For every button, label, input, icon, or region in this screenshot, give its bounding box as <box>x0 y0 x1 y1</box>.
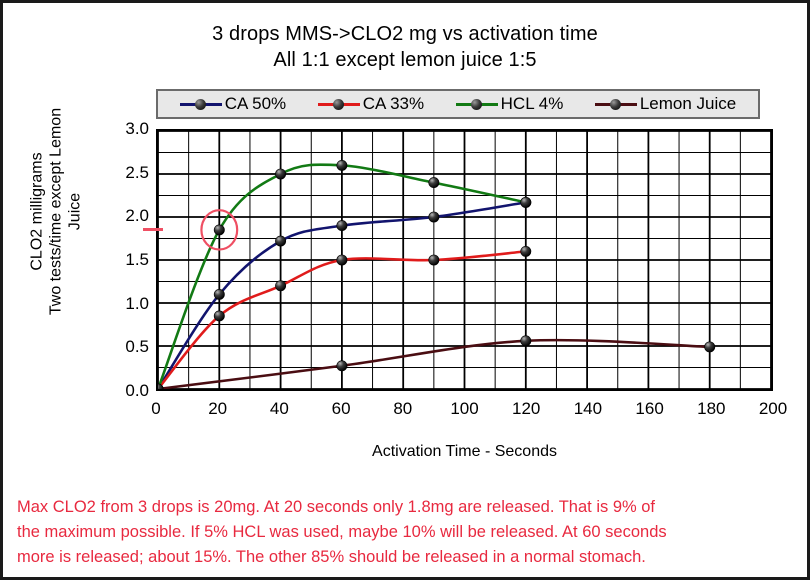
x-axis-tick-label: 20 <box>193 399 243 419</box>
x-axis-tick-label: 80 <box>378 399 428 419</box>
x-axis-label: Activation Time - Seconds <box>156 443 773 461</box>
legend-label: HCL 4% <box>501 94 564 114</box>
data-point-marker <box>521 336 531 346</box>
x-axis-tick-label: 200 <box>748 399 798 419</box>
legend-item-hcl-4: HCL 4% <box>456 94 564 114</box>
legend-item-ca-33: CA 33% <box>318 94 424 114</box>
series-layer <box>158 131 771 389</box>
data-point-marker <box>521 246 531 256</box>
x-axis-tick-label: 100 <box>440 399 490 419</box>
plot-area <box>156 129 773 391</box>
legend-marker-icon <box>333 99 344 110</box>
chart-title-line-2: All 1:1 except lemon juice 1:5 <box>3 47 807 73</box>
y-axis-tick-label: 0.0 <box>105 381 149 401</box>
y-axis-tick-label: 1.0 <box>105 294 149 314</box>
legend-label: CA 33% <box>363 94 424 114</box>
chart-page: 3 drops MMS->CLO2 mg vs activation time … <box>0 0 810 580</box>
data-point-marker <box>214 289 224 299</box>
data-point-marker <box>705 342 715 352</box>
legend-swatch-icon <box>456 97 498 111</box>
annotation-axis-dash <box>143 228 163 231</box>
data-point-marker <box>214 311 224 321</box>
series-line-hcl-4 <box>158 165 526 389</box>
y-axis-tick-label: 1.5 <box>105 250 149 270</box>
caption-line-2: the maximum possible. If 5% HCL was used… <box>17 520 799 545</box>
x-axis-tick-labels: 020406080100120140160180200 <box>156 399 773 423</box>
data-point-marker <box>337 220 347 230</box>
legend-swatch-icon <box>180 97 222 111</box>
x-axis-tick-label: 120 <box>501 399 551 419</box>
legend-label: CA 50% <box>225 94 286 114</box>
chart-title-line-1: 3 drops MMS->CLO2 mg vs activation time <box>3 21 807 47</box>
data-point-marker <box>275 236 285 246</box>
caption-line-3: more is released; about 15%. The other 8… <box>17 545 799 570</box>
legend-marker-icon <box>195 99 206 110</box>
legend-label: Lemon Juice <box>640 94 736 114</box>
y-axis-tick-label: 2.5 <box>105 163 149 183</box>
series-line-lemon-juice <box>158 340 710 389</box>
y-axis-tick-label: 3.0 <box>105 119 149 139</box>
legend-swatch-icon <box>318 97 360 111</box>
data-point-marker <box>275 281 285 291</box>
y-axis-label-line-1: CLO2 milligrams <box>28 97 47 327</box>
data-point-marker <box>337 255 347 265</box>
legend-item-ca-50: CA 50% <box>180 94 286 114</box>
x-axis-tick-label: 160 <box>625 399 675 419</box>
data-point-marker <box>429 177 439 187</box>
data-point-marker <box>429 255 439 265</box>
data-point-marker <box>337 160 347 170</box>
chart-legend: CA 50%CA 33%HCL 4%Lemon Juice <box>156 89 760 119</box>
caption-text: Max CLO2 from 3 drops is 20mg. At 20 sec… <box>17 495 799 570</box>
data-point-marker <box>275 169 285 179</box>
data-point-marker <box>214 225 224 235</box>
legend-swatch-icon <box>595 97 637 111</box>
data-point-marker <box>429 212 439 222</box>
legend-marker-icon <box>610 99 621 110</box>
caption-line-1: Max CLO2 from 3 drops is 20mg. At 20 sec… <box>17 495 799 520</box>
y-axis-tick-labels: 0.00.51.01.52.02.53.0 <box>99 129 149 391</box>
chart-title: 3 drops MMS->CLO2 mg vs activation time … <box>3 21 807 73</box>
x-axis-tick-label: 0 <box>131 399 181 419</box>
y-axis-label-line-2: Two tests/time except Lemon Juice <box>47 97 85 327</box>
data-point-marker <box>521 197 531 207</box>
x-axis-tick-label: 60 <box>316 399 366 419</box>
y-axis-tick-label: 2.0 <box>105 206 149 226</box>
y-axis-tick-label: 0.5 <box>105 337 149 357</box>
legend-item-lemon-juice: Lemon Juice <box>595 94 736 114</box>
data-point-marker <box>337 361 347 371</box>
y-axis-label: CLO2 milligrams Two tests/time except Le… <box>28 97 85 327</box>
x-axis-tick-label: 40 <box>254 399 304 419</box>
legend-marker-icon <box>471 99 482 110</box>
x-axis-tick-label: 140 <box>563 399 613 419</box>
x-axis-tick-label: 180 <box>686 399 736 419</box>
